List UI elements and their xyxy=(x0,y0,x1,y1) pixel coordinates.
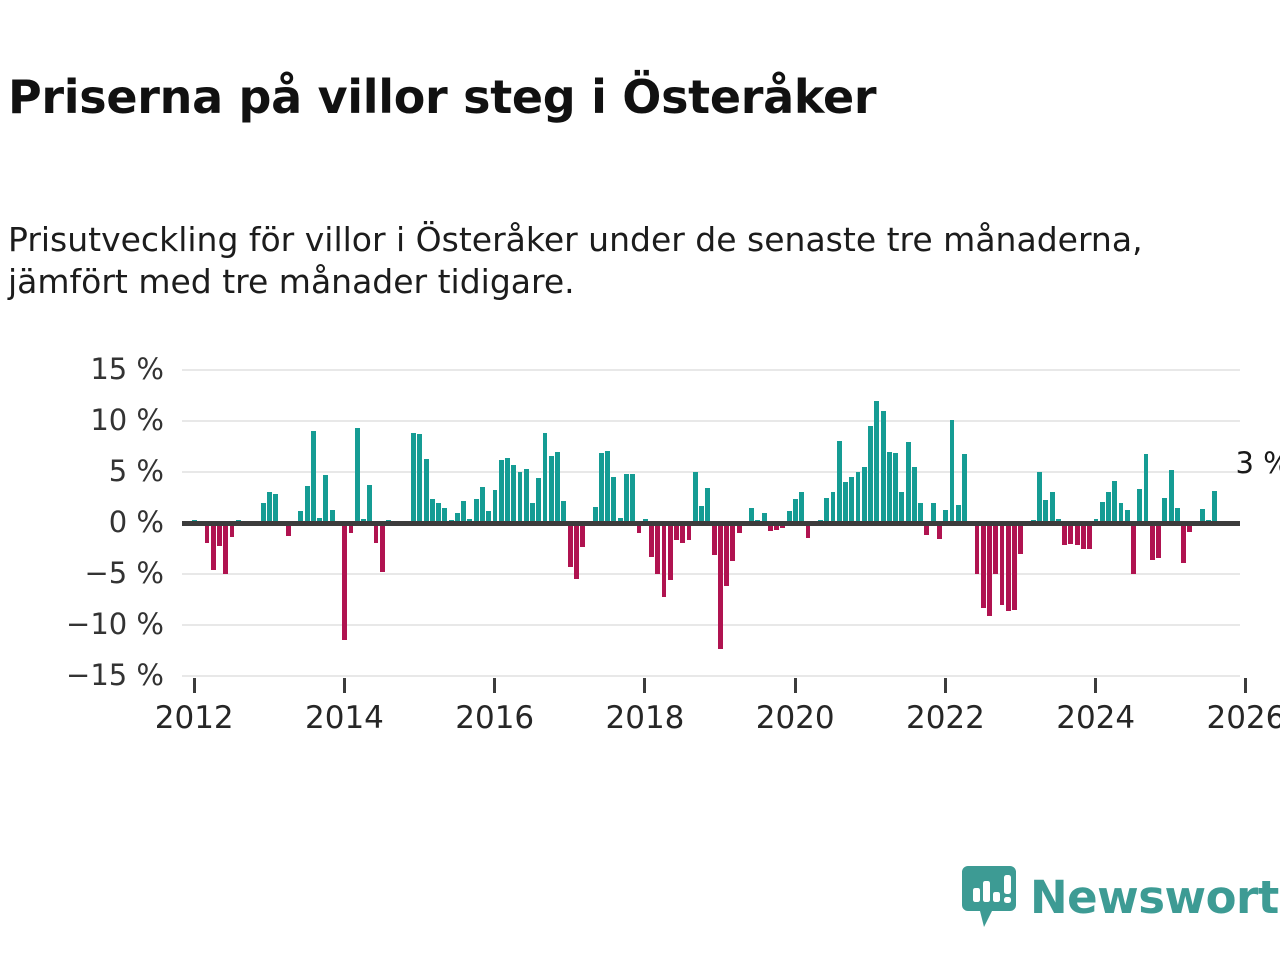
bar xyxy=(568,523,573,567)
x-axis-tick-mark xyxy=(794,678,797,693)
bar xyxy=(950,420,955,523)
bar xyxy=(831,492,836,523)
y-axis-tick-label: −15 % xyxy=(4,661,164,690)
bar xyxy=(1100,502,1105,523)
bar xyxy=(518,472,523,523)
bar xyxy=(549,456,554,523)
x-axis-tick-label: 2018 xyxy=(606,700,685,736)
bar xyxy=(975,523,980,574)
last-value-annotation: 3 % xyxy=(1235,446,1280,480)
y-axis-tick-label: −5 % xyxy=(4,559,164,588)
bar-chart: 15 %10 %5 %0 %−5 %−10 %−15 % 20122014201… xyxy=(0,352,1280,752)
x-axis-tick-label: 2020 xyxy=(756,700,835,736)
bar xyxy=(1087,523,1092,549)
bar xyxy=(611,477,616,523)
bar xyxy=(543,433,548,523)
bar xyxy=(693,472,698,523)
bar xyxy=(993,523,998,574)
bar xyxy=(856,472,861,523)
bar xyxy=(305,486,310,523)
bar xyxy=(474,499,479,523)
newsworthy-wordmark: Newsworthy xyxy=(1030,875,1280,920)
bar xyxy=(430,499,435,523)
bar xyxy=(730,523,735,561)
x-axis-tick-label: 2014 xyxy=(305,700,384,736)
bar xyxy=(205,523,210,543)
bar xyxy=(630,474,635,523)
bar xyxy=(881,411,886,523)
x-axis-tick-mark xyxy=(493,678,496,693)
zero-axis-line xyxy=(182,521,1240,526)
bar xyxy=(662,523,667,597)
bar xyxy=(1006,523,1011,611)
x-axis-tick-mark xyxy=(1244,678,1247,693)
bar xyxy=(868,426,873,523)
x-axis-tick-label: 2024 xyxy=(1056,700,1135,736)
y-axis-tick-label: 15 % xyxy=(4,355,164,384)
y-axis-tick-label: 0 % xyxy=(4,508,164,537)
bar xyxy=(799,492,804,523)
bar xyxy=(605,451,610,523)
bar xyxy=(1075,523,1080,545)
bar xyxy=(981,523,986,608)
y-axis-tick-label: 10 % xyxy=(4,406,164,435)
bar xyxy=(499,460,504,523)
bar xyxy=(505,458,510,523)
bar xyxy=(461,501,466,523)
bar xyxy=(480,487,485,523)
bar xyxy=(355,428,360,523)
x-axis-tick-mark xyxy=(1094,678,1097,693)
bar xyxy=(524,469,529,523)
bar xyxy=(1112,481,1117,523)
bar xyxy=(962,454,967,523)
y-axis-tick-label: 5 % xyxy=(4,457,164,486)
bar xyxy=(1144,454,1149,523)
bar xyxy=(261,503,266,523)
newsworthy-bubble-barchart-icon xyxy=(962,866,1016,928)
newsworthy-logo[interactable]: Newsworthy xyxy=(962,866,1280,928)
page-title: Priserna på villor steg i Österåker xyxy=(8,73,1248,123)
bar xyxy=(824,498,829,524)
bar xyxy=(837,441,842,523)
bar xyxy=(267,492,272,523)
bar xyxy=(1181,523,1186,563)
bar xyxy=(843,482,848,523)
x-axis-tick-label: 2026 xyxy=(1206,700,1280,736)
bar xyxy=(323,475,328,523)
bar xyxy=(1043,500,1048,523)
bar xyxy=(1081,523,1086,549)
bar xyxy=(1018,523,1023,554)
bar xyxy=(668,523,673,580)
bar xyxy=(1000,523,1005,605)
bar xyxy=(906,442,911,523)
bar xyxy=(1037,472,1042,523)
bar xyxy=(987,523,992,616)
bar xyxy=(893,453,898,523)
bar xyxy=(793,499,798,523)
x-axis-tick-label: 2016 xyxy=(455,700,534,736)
bar xyxy=(223,523,228,574)
bar xyxy=(718,523,723,649)
bar xyxy=(1068,523,1073,544)
bar xyxy=(1150,523,1155,560)
bar xyxy=(705,488,710,523)
bar xyxy=(367,485,372,523)
x-axis-tick-label: 2022 xyxy=(906,700,985,736)
bar xyxy=(862,467,867,523)
bar xyxy=(655,523,660,574)
bar xyxy=(555,452,560,523)
bar xyxy=(1169,470,1174,523)
bar xyxy=(311,431,316,523)
bar xyxy=(417,434,422,523)
bar xyxy=(912,467,917,523)
bar xyxy=(380,523,385,572)
chart-page: Priserna på villor steg i Österåker Pris… xyxy=(0,0,1280,960)
bar xyxy=(712,523,717,555)
bar xyxy=(574,523,579,579)
bar xyxy=(724,523,729,586)
x-axis-tick-mark xyxy=(643,678,646,693)
y-axis-tick-label: −10 % xyxy=(4,610,164,639)
bar xyxy=(680,523,685,543)
bar xyxy=(1050,492,1055,523)
bar xyxy=(1012,523,1017,610)
bar xyxy=(649,523,654,557)
bar xyxy=(374,523,379,543)
bar xyxy=(887,452,892,523)
bar xyxy=(1137,489,1142,523)
bar xyxy=(918,503,923,523)
bar xyxy=(1062,523,1067,545)
bar xyxy=(1162,498,1167,524)
bar xyxy=(536,478,541,523)
bar xyxy=(899,492,904,523)
bar xyxy=(436,503,441,523)
bar xyxy=(217,523,222,546)
chart-subtitle: Prisutveckling för villor i Österåker un… xyxy=(8,219,1238,303)
bar xyxy=(1212,491,1217,523)
bar xyxy=(599,453,604,523)
bar xyxy=(1131,523,1136,574)
bar xyxy=(424,459,429,523)
bar xyxy=(511,465,516,523)
bar xyxy=(561,501,566,523)
bar xyxy=(580,523,585,547)
x-axis: 20122014201620182020202220242026 xyxy=(182,678,1240,694)
bar xyxy=(874,401,879,523)
x-axis-tick-mark xyxy=(944,678,947,693)
bar xyxy=(1156,523,1161,558)
bar xyxy=(493,490,498,523)
bar xyxy=(624,474,629,523)
x-axis-tick-mark xyxy=(343,678,346,693)
bar xyxy=(931,503,936,523)
x-axis-tick-label: 2012 xyxy=(155,700,234,736)
bar xyxy=(849,477,854,523)
bar xyxy=(211,523,216,570)
bar xyxy=(273,494,278,523)
bar xyxy=(342,523,347,640)
plot-area xyxy=(182,370,1240,676)
bar xyxy=(1119,503,1124,523)
bar xyxy=(530,503,535,523)
bar xyxy=(411,433,416,523)
x-axis-tick-mark xyxy=(193,678,196,693)
bar xyxy=(1106,492,1111,523)
